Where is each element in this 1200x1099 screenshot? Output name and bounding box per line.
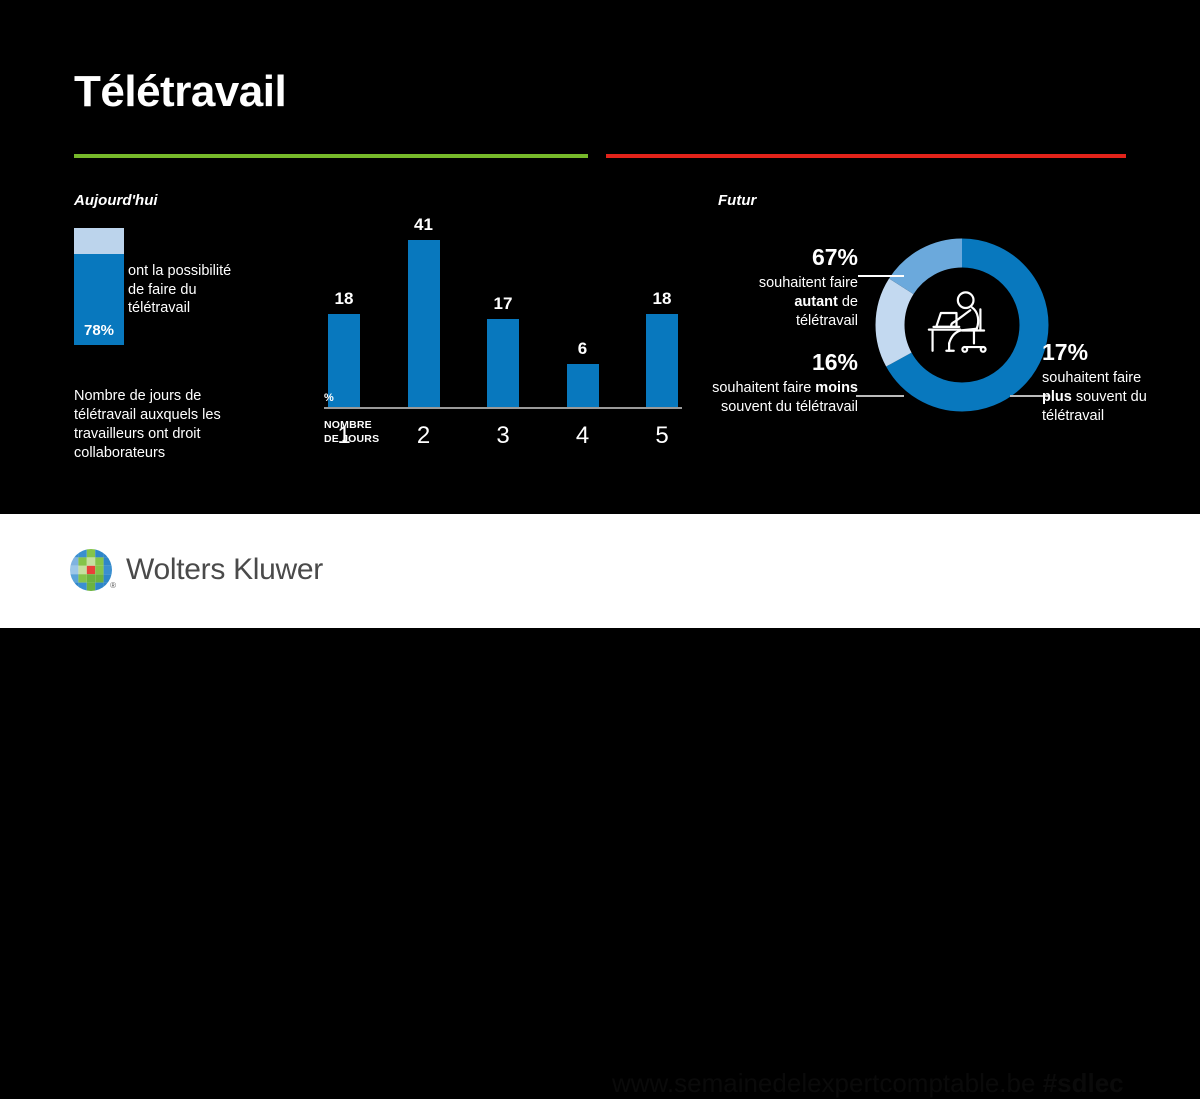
x-axis-line (324, 407, 682, 409)
wolters-kluwer-logo[interactable]: ® Wolters Kluwer (70, 549, 323, 591)
bar-column: 41 (404, 212, 444, 408)
donut-label-text-before: souhaitent faire (712, 380, 815, 396)
stacked-bar-value-label: 78% (74, 322, 124, 339)
footer-bar: ® Wolters Kluwer www.semainedelexpertcom… (0, 514, 1200, 628)
donut-label-autant: 67% souhaitent faire autant de télétrava… (738, 243, 858, 330)
donut-label-percent: 16% (710, 348, 858, 378)
x-axis-tick: 1 (324, 422, 364, 450)
bar-column: 18 (324, 212, 364, 408)
bar-rect (408, 240, 440, 408)
wolters-kluwer-logo-icon: ® (70, 549, 112, 591)
bar-value-label: 17 (494, 294, 513, 314)
footer-hashtag: #sdlec (1043, 1068, 1124, 1098)
bar-column: 6 (563, 212, 603, 408)
donut-label-emphasis: moins (815, 380, 858, 396)
donut-label-text-before: souhaitent faire (1042, 370, 1141, 386)
x-axis-tick: 3 (483, 422, 523, 450)
bar-chart-plot-area: 18 41 17 6 18 (324, 212, 682, 408)
stacked-bar-remainder-segment (74, 228, 124, 254)
x-axis-tick-labels: 1 2 3 4 5 (324, 422, 682, 450)
x-axis-tick: 4 (563, 422, 603, 450)
y-axis-unit-label: % (324, 392, 334, 404)
donut-label-percent: 17% (1042, 338, 1168, 368)
donut-leader-line-moins (856, 395, 904, 397)
footer-url[interactable]: www.semainedelexpertcomptable.be #sdlec (612, 1068, 1124, 1099)
bar-rect (646, 314, 678, 408)
stacked-bar-caption: ont la possibilité de faire du télétrava… (128, 262, 238, 318)
bar-value-label: 6 (578, 339, 587, 359)
bar-value-label: 18 (653, 289, 672, 309)
bar-value-label: 41 (414, 215, 433, 235)
bar-chart-description: Nombre de jours de télétravail auxquels … (74, 387, 242, 462)
donut-label-text-after: souvent du télétravail (721, 399, 858, 415)
donut-label-emphasis: autant (794, 294, 838, 310)
bar-value-label: 18 (335, 289, 354, 309)
donut-label-percent: 67% (738, 243, 858, 273)
days-bar-chart: 18 41 17 6 18 % NOMBRE DE JO (262, 200, 682, 430)
wolters-kluwer-wordmark: Wolters Kluwer (126, 553, 323, 587)
bar-column: 18 (642, 212, 682, 408)
donut-label-text-before: souhaitent faire (759, 275, 858, 291)
section-heading-future: Futur (718, 192, 756, 209)
divider-rule-red (606, 154, 1126, 158)
section-heading-today: Aujourd'hui (74, 192, 158, 209)
stacked-possibility-bar: 78% (74, 228, 124, 345)
divider-rule-green (74, 154, 588, 158)
donut-label-emphasis: plus (1042, 389, 1072, 405)
registered-trademark-mark: ® (110, 581, 116, 590)
x-axis-tick: 2 (404, 422, 444, 450)
bar-rect (487, 319, 519, 408)
infographic-stage: Télétravail Aujourd'hui 78% ont la possi… (0, 0, 1200, 514)
donut-label-plus: 17% souhaitent faire plus souvent du tél… (1042, 338, 1168, 425)
donut-leader-line-autant (858, 275, 904, 277)
page-title: Télétravail (74, 70, 286, 114)
person-at-desk-icon (916, 279, 1008, 371)
bar-column: 17 (483, 212, 523, 408)
donut-label-moins: 16% souhaitent faire moins souvent du té… (710, 348, 858, 417)
logo-mosaic-svg (70, 549, 112, 591)
footer-url-text: www.semainedelexpertcomptable.be (612, 1068, 1035, 1098)
x-axis-tick: 5 (642, 422, 682, 450)
bar-rect (567, 364, 599, 408)
